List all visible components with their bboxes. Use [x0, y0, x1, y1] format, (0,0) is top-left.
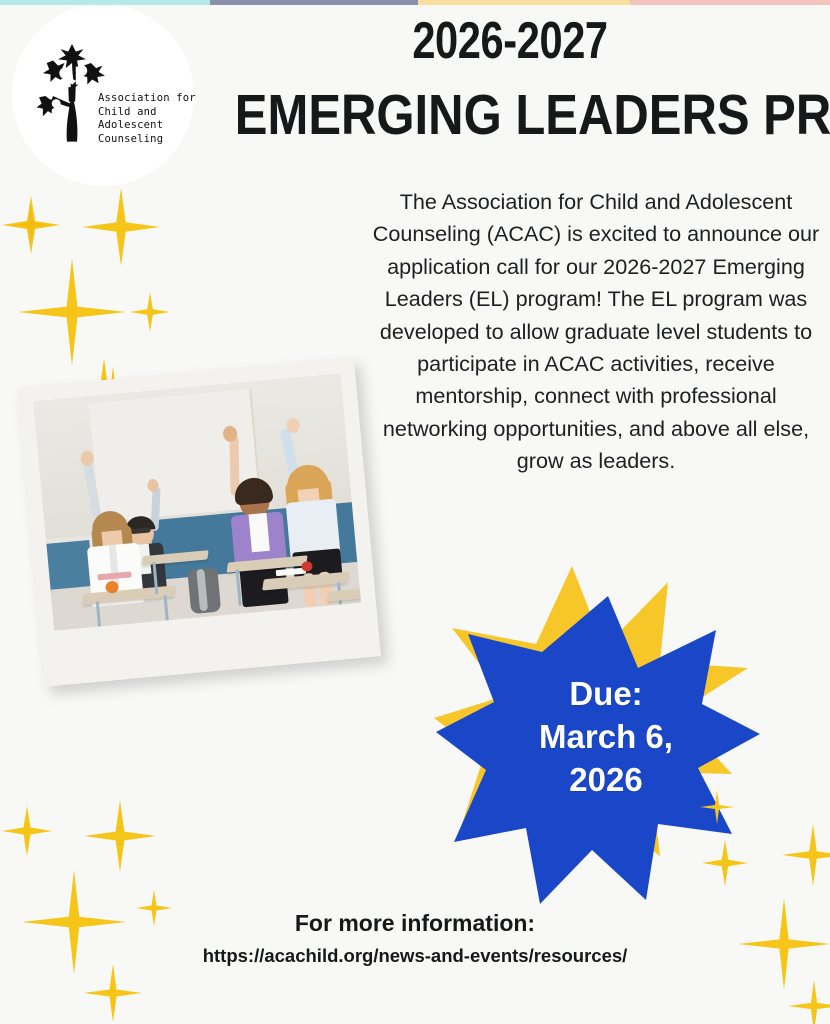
poster-canvas: Association for Child and Adolescent Cou… [0, 0, 830, 1024]
sparkle-star [130, 292, 170, 332]
logo-line-3: Adolescent [98, 119, 208, 133]
sparkle-star [2, 806, 52, 856]
acac-logo: Association for Child and Adolescent Cou… [12, 4, 194, 186]
resources-url[interactable]: https://acachild.org/news-and-events/res… [0, 942, 830, 970]
sparkle-star [84, 800, 156, 872]
strip-slate [210, 0, 418, 5]
strip-cyan [0, 0, 210, 5]
sparkle-star [782, 824, 830, 886]
classroom-photo [33, 374, 361, 631]
poster-header: 2026-2027 EMERGING LEADERS PROGRAM [190, 12, 830, 148]
sparkle-star [18, 258, 126, 366]
strip-gold [418, 0, 630, 5]
sparkle-star [788, 980, 830, 1024]
due-date-badge: Due: March 6, 2026 [432, 556, 762, 916]
logo-line-1: Association for [98, 92, 208, 106]
logo-text-block: Association for Child and Adolescent Cou… [98, 92, 208, 146]
sparkle-star [2, 196, 60, 254]
footer: For more information: https://acachild.o… [0, 908, 830, 970]
logo-line-2: Child and [98, 106, 208, 120]
sparkle-star [84, 964, 142, 1022]
due-date-line: March 6, [539, 715, 673, 758]
strip-pink [630, 0, 830, 5]
classroom-photo-polaroid [17, 357, 381, 686]
description-paragraph: The Association for Child and Adolescent… [362, 186, 830, 478]
due-date-text: Due: March 6, 2026 [432, 556, 762, 916]
due-label: Due: [569, 672, 642, 715]
page-title: EMERGING LEADERS PROGRAM [235, 82, 785, 148]
logo-line-4: Counseling [98, 133, 208, 147]
program-year: 2026-2027 [254, 12, 766, 70]
due-year-line: 2026 [569, 758, 642, 801]
sparkle-star [82, 188, 160, 266]
top-color-strip [0, 0, 830, 5]
